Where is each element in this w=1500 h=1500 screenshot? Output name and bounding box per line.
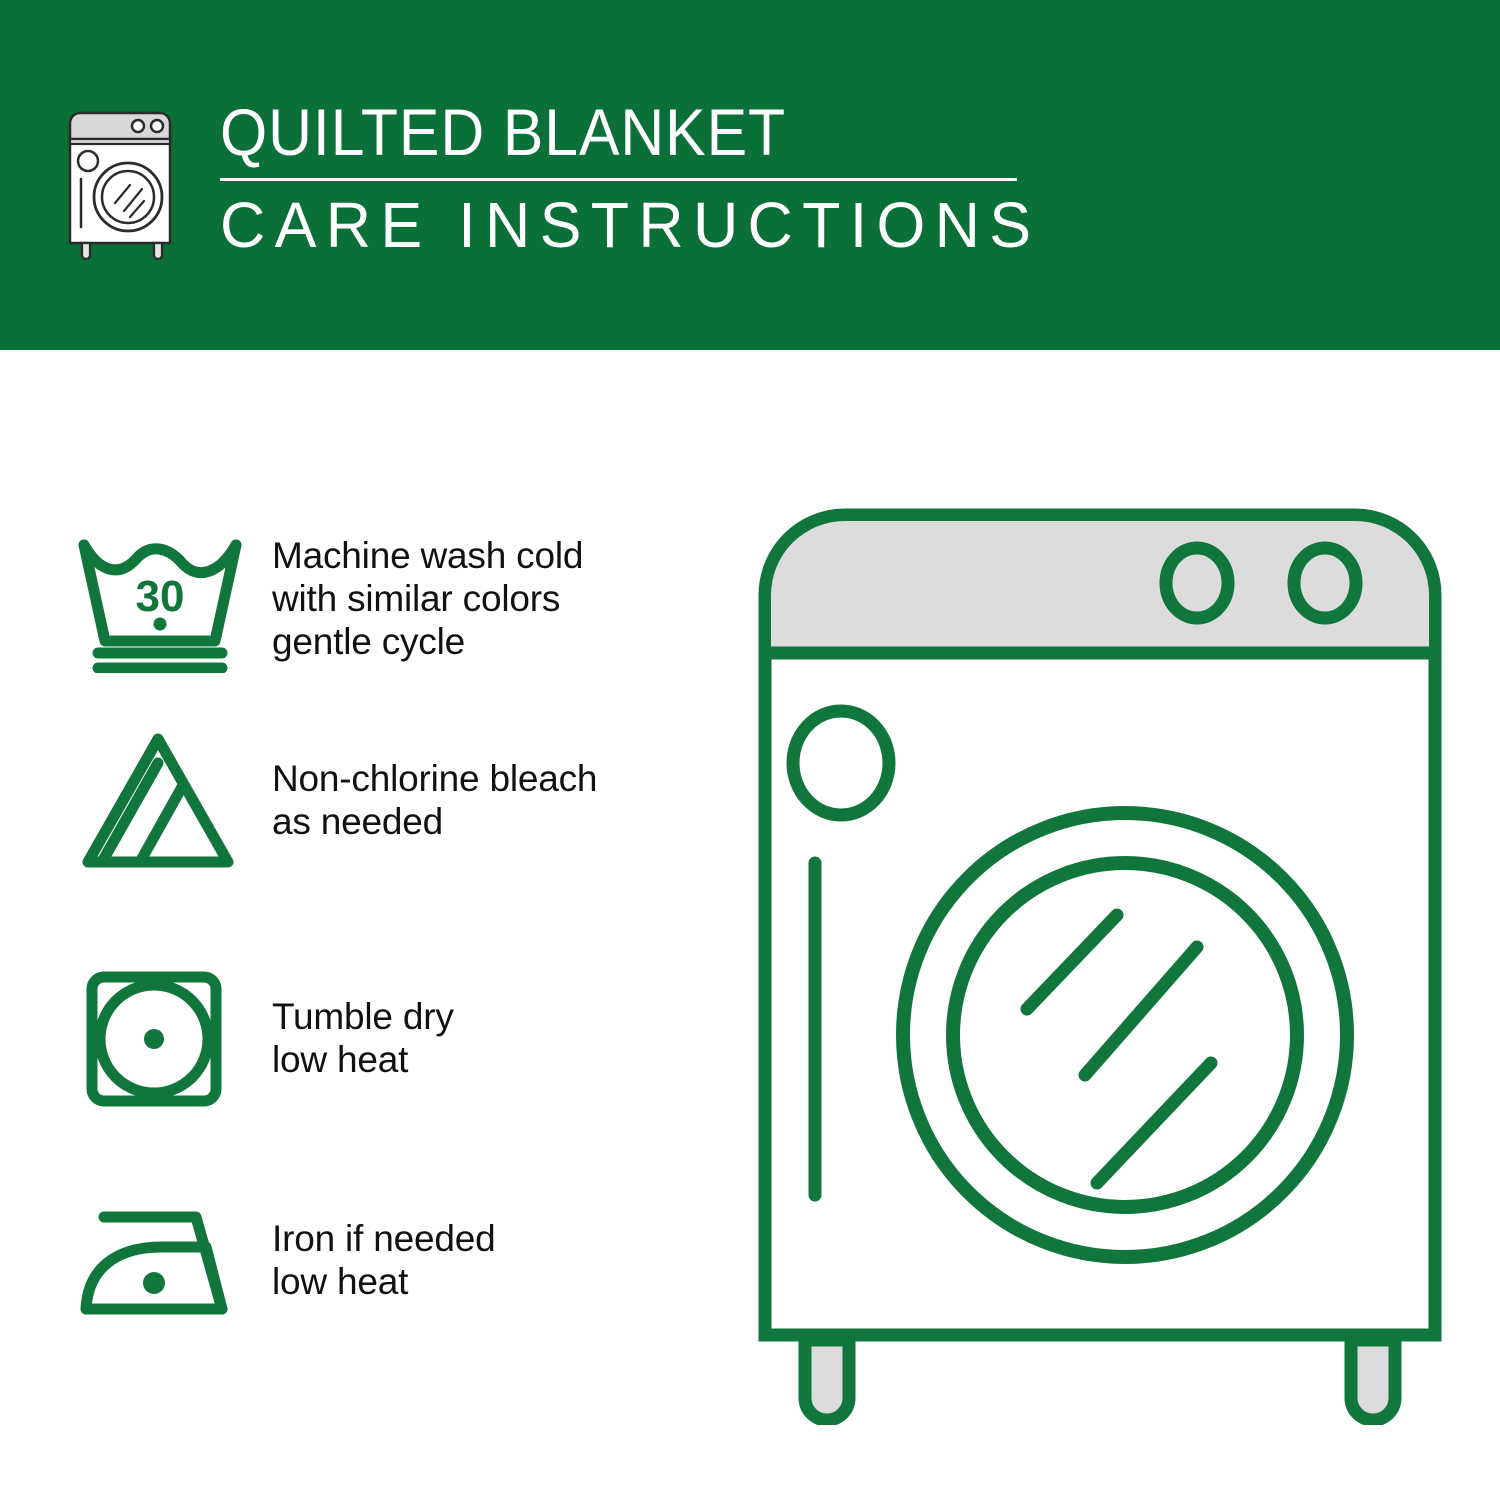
title-divider-rule [220, 178, 1017, 181]
care-item-machine-wash: 30 Machine wash cold with similar colors… [0, 518, 730, 678]
non-chlorine-bleach-triangle-icon [70, 720, 250, 880]
knob-left [1166, 548, 1228, 618]
header-title-block: QUILTED BLANKET CARE INSTRUCTIONS [220, 95, 1020, 262]
page-title-product: QUILTED BLANKET [220, 95, 956, 169]
page-title-subtitle: CARE INSTRUCTIONS [220, 188, 1004, 262]
leg-right [1351, 1340, 1395, 1420]
care-item-tumble-dry: Tumble dry low heat [0, 958, 730, 1118]
care-item-iron: Iron if needed low heat [0, 1180, 730, 1340]
header-content: QUILTED BLANKET CARE INSTRUCTIONS [62, 95, 1062, 280]
care-item-label: Non-chlorine bleach as needed [272, 757, 597, 843]
care-item-label: Tumble dry low heat [272, 995, 454, 1081]
iron-low-heat-icon [70, 1180, 250, 1340]
care-item-label: Iron if needed low heat [272, 1217, 495, 1303]
detergent-dispenser-circle [793, 711, 889, 815]
care-instructions-list: 30 Machine wash cold with similar colors… [0, 350, 730, 1500]
care-item-bleach: Non-chlorine bleach as needed [0, 720, 730, 880]
washing-machine-logo-icon [62, 105, 190, 265]
care-item-label: Machine wash cold with similar colors ge… [272, 534, 583, 663]
header-banner: QUILTED BLANKET CARE INSTRUCTIONS [0, 0, 1500, 350]
knob-right [1294, 548, 1356, 618]
front-load-washing-machine-illustration [745, 495, 1455, 1425]
wash-tub-30-gentle-icon: 30 [70, 518, 250, 678]
leg-left [805, 1340, 849, 1420]
wash-temperature-value: 30 [136, 572, 185, 621]
tumble-dry-low-heat-icon [70, 958, 250, 1118]
